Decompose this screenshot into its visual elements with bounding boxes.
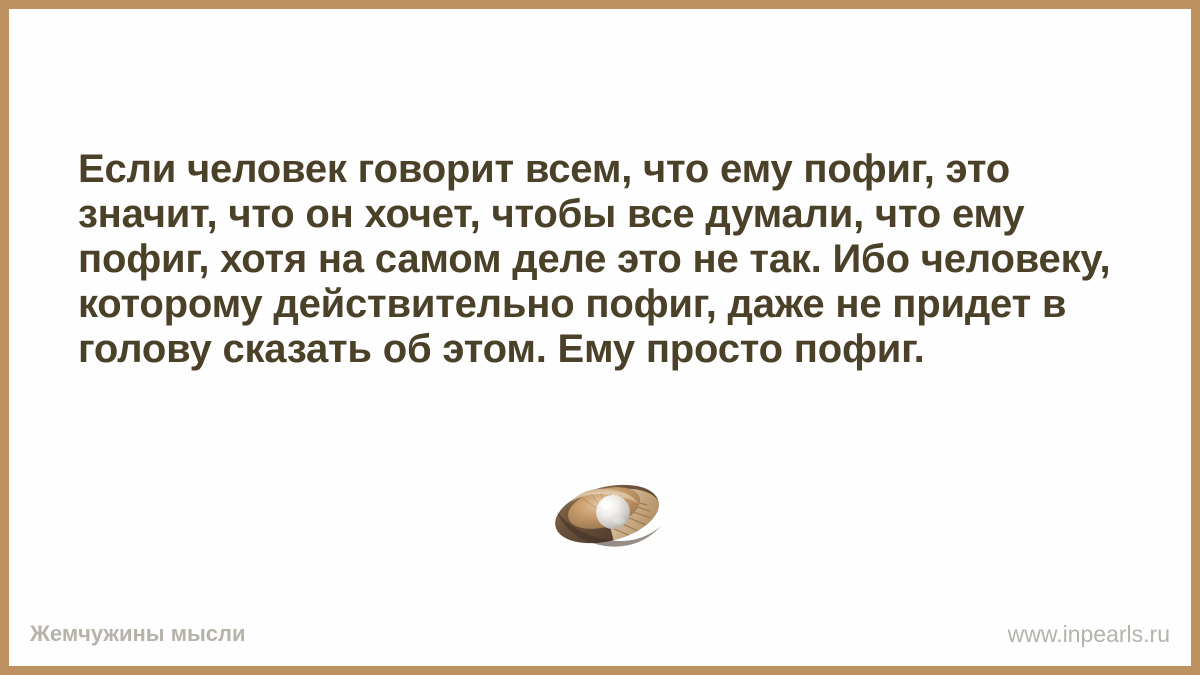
quote-card: Если человек говорит всем, что ему пофиг… bbox=[0, 0, 1200, 675]
site-url-label[interactable]: www.inpearls.ru bbox=[1008, 621, 1170, 648]
quote-text: Если человек говорит всем, что ему пофиг… bbox=[78, 147, 1130, 372]
brand-label: Жемчужины мысли bbox=[30, 621, 246, 647]
footer: Жемчужины мысли www.inpearls.ru bbox=[9, 621, 1191, 666]
seashell-with-pearl-icon bbox=[543, 464, 675, 549]
